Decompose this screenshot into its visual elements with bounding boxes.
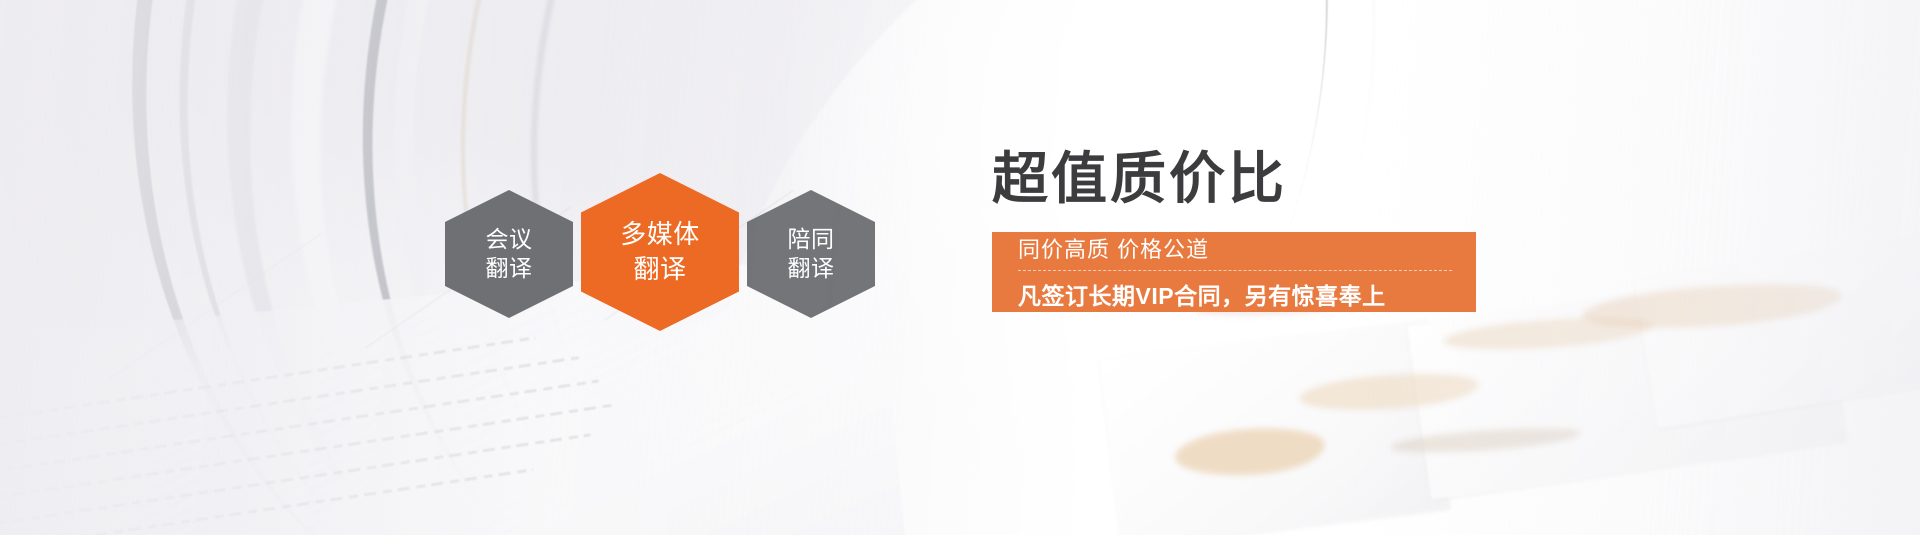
hexagon-label-line2: 翻译: [486, 255, 533, 282]
promo-offer: 凡签订长期VIP合同，另有惊喜奉上: [1018, 277, 1452, 311]
hexagon-label-line1: 多媒体: [620, 219, 700, 250]
hexagon-label-line2: 翻译: [788, 255, 835, 282]
hexagon-label-line2: 翻译: [633, 254, 686, 285]
promo-dashed-divider: [1018, 270, 1452, 271]
hexagon-conference-translation[interactable]: 会议 翻译: [445, 190, 573, 318]
hexagon-label-line1: 陪同: [788, 226, 835, 253]
service-hexagon-group: 会议 翻译 多媒体 翻译 陪同 翻译: [0, 0, 1920, 535]
promotional-banner: 会议 翻译 多媒体 翻译 陪同 翻译 超值质价比 同价高质 价格公道 凡签订长期…: [0, 0, 1920, 535]
banner-headline: 超值质价比: [992, 148, 1512, 210]
hexagon-label-line1: 会议: [486, 226, 533, 253]
promo-box: 同价高质 价格公道 凡签订长期VIP合同，另有惊喜奉上: [992, 232, 1476, 312]
promo-tagline: 同价高质 价格公道: [1018, 232, 1452, 270]
hexagon-escort-translation[interactable]: 陪同 翻译: [747, 190, 875, 318]
banner-copy: 超值质价比 同价高质 价格公道 凡签订长期VIP合同，另有惊喜奉上: [992, 148, 1512, 312]
hexagon-multimedia-translation[interactable]: 多媒体 翻译: [581, 173, 739, 331]
